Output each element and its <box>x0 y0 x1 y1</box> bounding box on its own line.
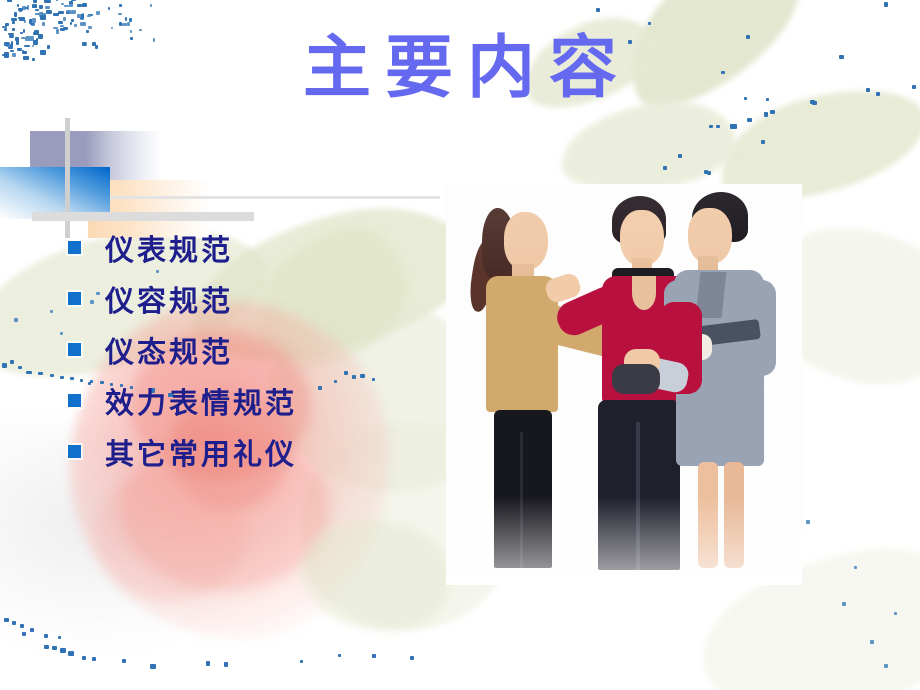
decorative-dot <box>10 360 14 364</box>
decorative-dot <box>770 110 775 114</box>
list-item[interactable]: 效力表情规范 <box>68 375 428 426</box>
decorative-dot <box>22 632 26 636</box>
list-item-label: 仪表规范 <box>105 227 233 269</box>
decorative-dot <box>61 3 64 5</box>
decorative-dot <box>60 25 64 27</box>
decorative-dot <box>338 654 341 657</box>
decorative-dot <box>35 9 39 11</box>
decorative-dot <box>224 662 228 667</box>
decorative-dot <box>648 22 651 25</box>
horizontal-rule <box>32 212 254 221</box>
decorative-dot <box>44 634 48 638</box>
decorative-dot <box>30 20 34 25</box>
decorative-dot <box>596 8 600 12</box>
decorative-dot <box>150 4 152 7</box>
decorative-dot <box>88 26 92 29</box>
decorative-dot <box>92 657 96 661</box>
decorative-dot <box>14 12 17 17</box>
decorative-dot <box>24 20 26 23</box>
decorative-dot <box>96 11 100 15</box>
decorative-dot <box>118 13 122 15</box>
decorative-dot <box>69 1 73 5</box>
decorative-dot <box>730 124 737 129</box>
decorative-dot <box>50 310 53 313</box>
decorative-dot <box>40 15 46 20</box>
decorative-dot <box>18 17 22 19</box>
decorative-dot <box>53 27 58 29</box>
list-item-label: 仪容规范 <box>105 278 233 320</box>
decorative-dot <box>372 654 376 658</box>
list-item[interactable]: 仪态规范 <box>68 324 428 375</box>
decorative-dot <box>806 520 810 524</box>
decorative-dot <box>129 18 132 22</box>
decorative-dot <box>71 0 76 1</box>
decorative-dot <box>68 651 74 656</box>
decorative-dot <box>19 17 25 21</box>
decorative-dot <box>122 23 127 26</box>
decorative-dot <box>18 8 23 11</box>
decorative-dot <box>12 21 15 24</box>
list-item[interactable]: 仪表规范 <box>68 222 428 273</box>
slide-photo <box>446 184 802 585</box>
decorative-dot <box>108 7 110 10</box>
decorative-dot <box>69 12 73 14</box>
decorative-dot <box>60 28 65 31</box>
bullet-square-icon <box>68 343 81 356</box>
list-item-label: 其它常用礼仪 <box>105 431 297 473</box>
decorative-dot <box>82 13 84 18</box>
decorative-dot <box>39 12 42 17</box>
decorative-dot <box>88 14 93 16</box>
decorative-dot <box>4 28 7 31</box>
decorative-dot <box>5 23 9 26</box>
decorative-dot <box>130 30 132 33</box>
decorative-dot <box>39 5 43 9</box>
decorative-dot <box>66 11 70 14</box>
decorative-dot <box>709 125 713 128</box>
decorative-dot <box>58 636 61 639</box>
decorative-dot <box>50 374 54 377</box>
decorative-dot <box>747 118 752 122</box>
decorative-dot <box>704 170 708 174</box>
decorative-dot <box>32 4 37 8</box>
decorative-dot <box>23 29 25 33</box>
decorative-dot <box>119 4 122 7</box>
decorative-dot <box>33 0 37 3</box>
decorative-dot <box>74 24 77 27</box>
decorative-dot <box>69 10 71 12</box>
decorative-dot <box>80 14 84 19</box>
decorative-dot <box>870 640 874 644</box>
decorative-dot <box>71 10 76 14</box>
decorative-dot <box>44 645 49 649</box>
decorative-dot <box>82 656 86 660</box>
decorative-dot <box>31 22 35 26</box>
decorative-dot <box>854 566 857 569</box>
decorative-dot <box>63 27 68 30</box>
decorative-dot <box>29 19 35 24</box>
decorative-dot <box>300 660 303 663</box>
decorative-dot <box>8 0 12 2</box>
list-item[interactable]: 其它常用礼仪 <box>68 426 428 477</box>
decorative-dot <box>716 125 720 128</box>
decorative-dot <box>122 659 126 663</box>
decorative-dot <box>46 0 51 3</box>
decorative-dot <box>139 29 142 31</box>
decorative-dot <box>2 363 7 368</box>
decorative-dot <box>41 12 43 15</box>
decorative-dot <box>12 621 16 625</box>
list-item[interactable]: 仪容规范 <box>68 273 428 324</box>
decorative-dot <box>32 5 37 8</box>
decorative-dot <box>19 9 22 12</box>
decorative-dot <box>30 628 34 632</box>
decorative-dot <box>764 112 768 117</box>
decorative-dot <box>12 22 14 24</box>
decorative-dot <box>206 661 210 666</box>
bullet-square-icon <box>68 394 81 407</box>
decorative-dot <box>77 4 82 7</box>
decorative-dot <box>44 0 50 3</box>
decorative-dot <box>64 5 69 7</box>
decorative-dot <box>69 4 73 7</box>
slide-title: 主要内容 <box>0 34 920 102</box>
decorative-dot <box>7 0 12 2</box>
decorative-dot <box>58 21 63 24</box>
bullet-list: 仪表规范 仪容规范 仪态规范 效力表情规范 其它常用礼仪 <box>68 222 428 477</box>
decorative-dot <box>761 140 765 144</box>
decorative-dot <box>53 13 59 16</box>
decorative-dot <box>35 13 41 15</box>
decorative-dot <box>70 22 72 25</box>
rose-leaf-shape <box>290 506 460 645</box>
decorative-dot <box>38 372 43 375</box>
decorative-dot <box>111 27 113 29</box>
decorative-dot <box>60 332 63 335</box>
decorative-dot <box>46 10 51 13</box>
decorative-dot <box>86 30 89 33</box>
decorative-dot <box>42 22 45 26</box>
decorative-dot <box>127 22 130 26</box>
decorative-dot <box>5 25 7 28</box>
decorative-dot <box>894 612 897 615</box>
decorative-dot <box>52 646 57 650</box>
horizontal-rule-thin <box>110 196 440 199</box>
decorative-dot <box>71 19 74 22</box>
decorative-dot <box>56 0 58 1</box>
decorative-dot <box>60 376 64 379</box>
decorative-dot <box>18 366 22 369</box>
decorative-dot <box>26 371 32 374</box>
decorative-dot <box>46 10 52 14</box>
decorative-dot <box>678 154 682 158</box>
decorative-dot <box>4 618 9 622</box>
decorative-dot <box>60 648 66 653</box>
decorative-dot <box>45 6 50 9</box>
decorative-dot <box>125 17 127 21</box>
decorative-dot <box>43 13 46 16</box>
bullet-square-icon <box>68 292 81 305</box>
decorative-dot <box>80 15 84 20</box>
decorative-dot <box>884 2 888 7</box>
bullet-square-icon <box>68 241 81 254</box>
decorative-dot <box>12 28 15 31</box>
decorative-dot <box>2 26 5 28</box>
decorative-dot <box>20 624 24 628</box>
decorative-dot <box>82 3 87 7</box>
photo-fade-overlay <box>446 184 802 585</box>
decorative-dot <box>77 14 81 18</box>
decorative-dot <box>58 11 64 14</box>
decorative-dot <box>63 17 66 21</box>
decorative-dot <box>66 10 70 12</box>
decorative-dot <box>27 5 29 10</box>
list-item-label: 仪态规范 <box>105 329 233 371</box>
decorative-dot <box>25 7 28 9</box>
decorative-dot <box>22 6 26 10</box>
decorative-dot <box>32 18 36 23</box>
decorative-dot <box>410 656 414 660</box>
decorative-dot <box>14 318 18 322</box>
decorative-dot <box>884 664 888 668</box>
decorative-dot <box>80 22 86 26</box>
presentation-slide: 主要内容 仪表规范 仪容规范 仪态规范 效力表情规范 其它常用礼仪 <box>0 0 920 690</box>
decorative-dot <box>11 18 17 21</box>
list-item-label: 效力表情规范 <box>105 380 297 422</box>
decorative-dot <box>87 15 91 17</box>
decorative-dot <box>842 602 846 606</box>
decorative-dot <box>17 4 19 7</box>
bullet-square-icon <box>68 445 81 458</box>
decorative-dot <box>707 171 711 175</box>
decorative-dot <box>119 22 122 26</box>
decorative-dot <box>150 664 156 669</box>
decorative-dot <box>663 166 667 170</box>
rose-petal-shape <box>95 470 245 600</box>
